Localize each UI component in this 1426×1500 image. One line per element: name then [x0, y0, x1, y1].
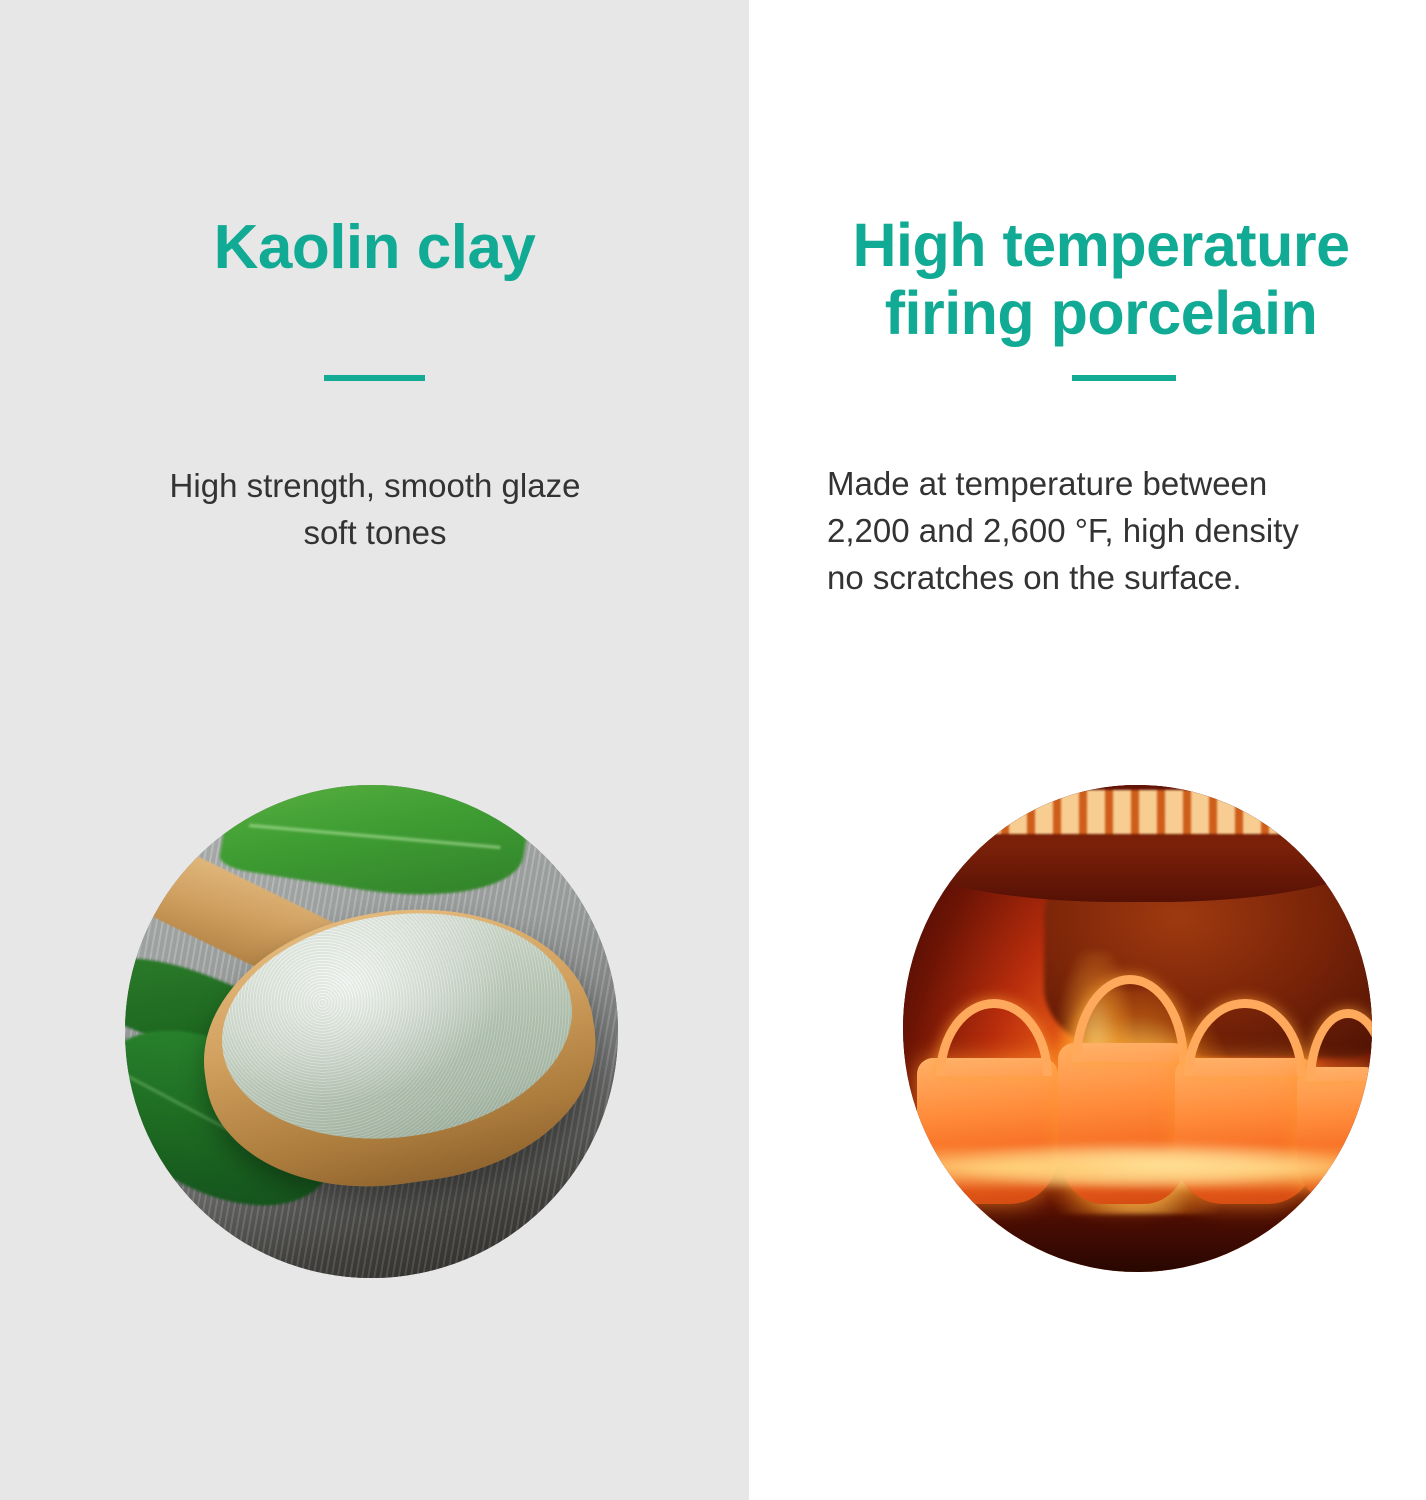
firing-porcelain-divider	[1072, 375, 1176, 381]
feature-panel-high-temperature-firing: High temperature firing porcelain Made a…	[749, 0, 1426, 1500]
firing-porcelain-heading-line-1: High temperature	[791, 211, 1411, 279]
kiln-embers	[912, 1141, 1362, 1195]
firing-porcelain-description-line-3: no scratches on the surface.	[827, 555, 1426, 602]
firing-porcelain-heading: High temperature firing porcelain	[791, 211, 1411, 348]
kiln-roof-bricks	[931, 790, 1344, 834]
firing-porcelain-heading-line-2: firing porcelain	[791, 279, 1411, 347]
kaolin-clay-description-line-2: soft tones	[60, 510, 690, 557]
kaolin-clay-description-line-1: High strength, smooth glaze	[60, 463, 690, 510]
kaolin-clay-divider	[324, 375, 425, 381]
firing-porcelain-description-line-2: 2,200 and 2,600 °F, high density	[827, 508, 1426, 555]
kaolin-clay-heading-line-1: Kaolin clay	[40, 213, 709, 282]
kaolin-clay-photo	[125, 785, 618, 1278]
kaolin-clay-description: High strength, smooth glaze soft tones	[60, 463, 690, 557]
firing-porcelain-description: Made at temperature between 2,200 and 2,…	[827, 461, 1426, 602]
feature-panel-kaolin-clay: Kaolin clay High strength, smooth glaze …	[0, 0, 749, 1500]
firing-porcelain-description-line-1: Made at temperature between	[827, 461, 1426, 508]
product-feature-infographic: Kaolin clay High strength, smooth glaze …	[0, 0, 1426, 1500]
kiln-firing-photo	[903, 785, 1372, 1272]
kaolin-clay-heading: Kaolin clay	[40, 213, 709, 282]
